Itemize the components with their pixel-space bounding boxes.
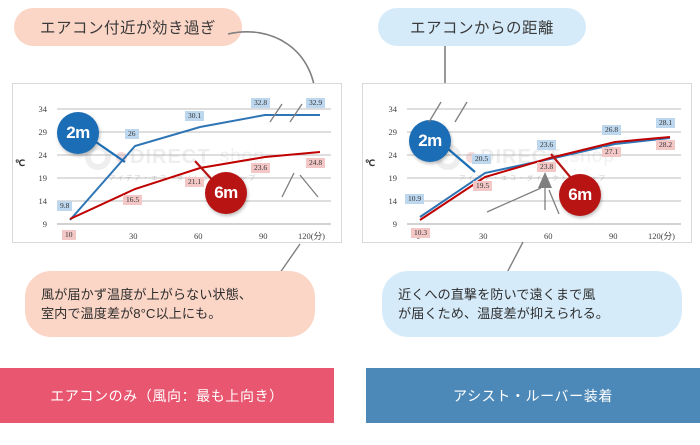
chart-right-badge-2m: 2m [409, 120, 451, 162]
chart-right-xtick-30: 30 [479, 231, 488, 241]
chart-left-label-6m-0: 10 [62, 230, 76, 240]
chart-right-label-2m-0: 10.9 [405, 194, 424, 204]
right-top-callout-text: エアコンからの距離 [410, 16, 554, 38]
chart-left-arrow-wings-icon [268, 102, 308, 124]
chart-left-badge-2m: 2m [57, 112, 99, 154]
chart-left-arrow-wings2-icon [278, 169, 324, 199]
chart-left-badge-6m-text: 6m [214, 183, 238, 203]
chart-right-ytick-24: 24 [379, 150, 397, 160]
chart-left-label-2m-4: 32.9 [306, 98, 325, 108]
chart-right-yaxis-unit: ℃ [365, 158, 375, 169]
chart-right-label-6m-0: 10.3 [411, 228, 430, 238]
right-footer-bar: アシスト・ルーバー装着 [366, 368, 700, 423]
chart-left-ytick-24: 24 [29, 150, 47, 160]
chart-left: DIRECT .shop アイデア・エコ・ダイレクト ショップ 34 29 [12, 83, 342, 243]
left-footer-label: エアコンのみ（風向：最も上向き） [50, 386, 284, 406]
chart-right-label-6m-3: 27.1 [602, 147, 621, 157]
infographic-root: エアコン付近が効き過ぎ DIRECT .shop アイデア・エコ・ダイレクト シ… [0, 0, 700, 445]
chart-left-2m-leader-icon [91, 136, 141, 176]
chart-left-badge-6m: 6m [205, 172, 247, 214]
chart-right-badge-2m-text: 2m [418, 131, 442, 151]
chart-left-yaxis-unit: ℃ [15, 158, 25, 169]
chart-left-label-6m-1: 16.5 [123, 195, 142, 205]
chart-right-xtick-90: 90 [609, 231, 618, 241]
right-bottom-bubble: 近くへの直撃を防いで遠くまで風 が届くため、温度差が抑えられる。 [382, 271, 682, 337]
chart-left-ytick-34: 34 [29, 104, 47, 114]
chart-left-label-2m-0: 9.8 [57, 201, 72, 211]
chart-right-arrow-wings-icon [425, 100, 471, 124]
right-bubble-line1: 近くへの直撃を防いで遠くまで風 [398, 285, 666, 304]
chart-left-badge-2m-text: 2m [66, 123, 90, 143]
chart-right: DIRECT .shop アイデア・エコ・ダイレクト ショップ 34 29 24… [362, 83, 692, 243]
panel-right: エアコンからの距離 DIRECT .shop アイデア・エコ・ダイレクト ショッ… [350, 0, 700, 445]
chart-right-label-6m-4: 28.2 [656, 140, 675, 150]
left-footer-bar: エアコンのみ（風向：最も上向き） [0, 368, 334, 423]
chart-left-ytick-9: 9 [29, 219, 47, 229]
chart-right-cluster-arrow-icon [483, 170, 563, 230]
right-top-callout: エアコンからの距離 [378, 8, 586, 46]
chart-right-ytick-34: 34 [379, 104, 397, 114]
chart-left-ytick-29: 29 [29, 127, 47, 137]
panel-left: エアコン付近が効き過ぎ DIRECT .shop アイデア・エコ・ダイレクト シ… [0, 0, 350, 445]
chart-right-ytick-9: 9 [379, 219, 397, 229]
chart-right-xtick-60: 60 [544, 231, 553, 241]
chart-left-label-2m-2: 30.1 [185, 111, 204, 121]
chart-left-xtick-60: 60 [194, 231, 203, 241]
left-top-callout: エアコン付近が効き過ぎ [14, 8, 242, 46]
chart-right-xtick-120: 120(分) [648, 230, 675, 242]
chart-left-label-6m-3: 23.6 [251, 163, 270, 173]
chart-left-xtick-30: 30 [129, 231, 138, 241]
chart-right-label-2m-2: 23.6 [537, 140, 556, 150]
chart-right-label-2m-4: 28.1 [656, 118, 675, 128]
chart-right-label-2m-3: 26.8 [602, 125, 621, 135]
chart-right-badge-6m: 6m [559, 174, 601, 216]
chart-left-label-6m-4: 24.8 [306, 158, 325, 168]
chart-right-badge-6m-text: 6m [568, 185, 592, 205]
left-bubble-line1: 風が届かず温度が上がらない状態、 [41, 285, 299, 304]
chart-right-ytick-14: 14 [379, 196, 397, 206]
chart-right-ytick-29: 29 [379, 127, 397, 137]
left-bubble-line2: 室内で温度差が8°C以上にも。 [41, 304, 299, 323]
chart-left-ytick-19: 19 [29, 173, 47, 183]
chart-left-ytick-14: 14 [29, 196, 47, 206]
right-footer-label: アシスト・ルーバー装着 [453, 386, 613, 406]
left-top-callout-text: エアコン付近が効き過ぎ [40, 16, 216, 38]
right-bubble-line2: が届くため、温度差が抑えられる。 [398, 304, 666, 323]
left-bottom-bubble: 風が届かず温度が上がらない状態、 室内で温度差が8°C以上にも。 [25, 271, 315, 337]
chart-right-ytick-19: 19 [379, 173, 397, 183]
